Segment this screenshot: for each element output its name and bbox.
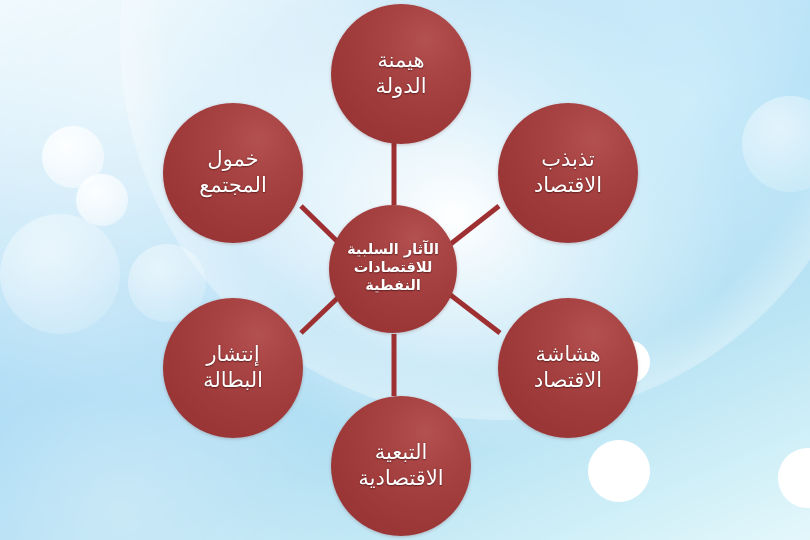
node-center-label: الآثار السلبية للاقتصادات النفطية	[339, 242, 447, 295]
node-label: تذبذب الاقتصاد	[526, 147, 610, 198]
node-center-hub[interactable]: الآثار السلبية للاقتصادات النفطية	[329, 205, 457, 333]
node-label: هشاشة الاقتصاد	[526, 342, 610, 393]
connector-center-to-right	[444, 290, 500, 333]
node-top-left[interactable]: خمول المجتمع	[163, 103, 303, 243]
node-bottom[interactable]: التبعية الاقتصادية	[331, 396, 471, 536]
node-label: خمول المجتمع	[191, 147, 275, 198]
diagram-canvas: هيمنة الدولة تذبذب الاقتصاد هشاشة الاقتص…	[0, 0, 810, 540]
node-bottom-left[interactable]: إنتشار البطالة	[163, 298, 303, 438]
node-label: هيمنة الدولة	[367, 48, 434, 99]
node-bottom-right[interactable]: هشاشة الاقتصاد	[498, 298, 638, 438]
node-label: إنتشار البطالة	[195, 342, 271, 393]
node-top-right[interactable]: تذبذب الاقتصاد	[498, 103, 638, 243]
node-top[interactable]: هيمنة الدولة	[331, 4, 471, 144]
node-label: التبعية الاقتصادية	[350, 440, 451, 491]
